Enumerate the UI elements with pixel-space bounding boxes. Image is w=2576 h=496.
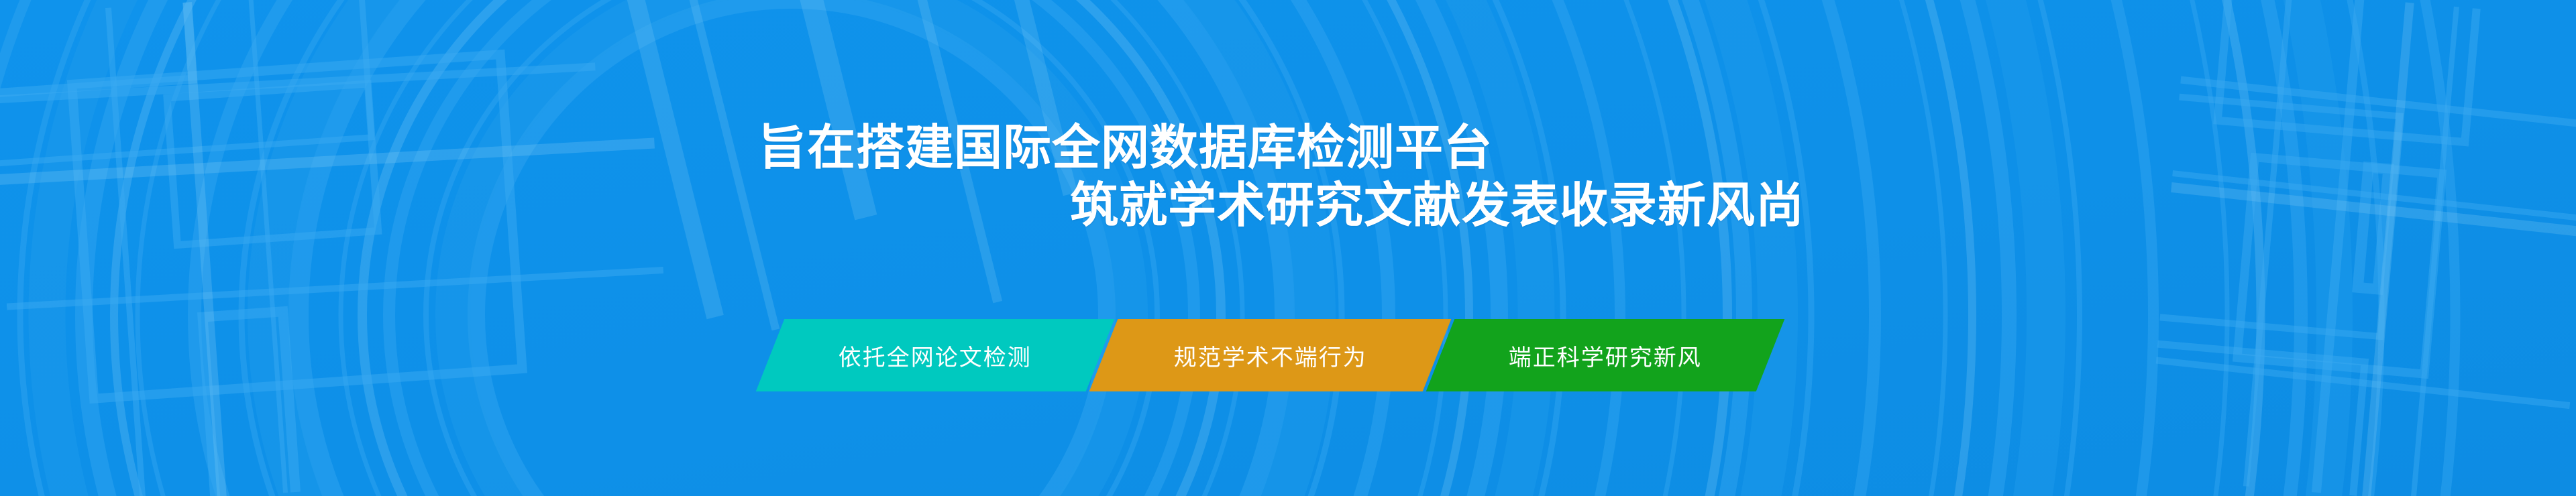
background-decoration bbox=[0, 0, 2576, 496]
decor-arcs bbox=[0, 0, 2455, 496]
headline-line-2: 筑就学术研究文献发表收录新风尚 bbox=[0, 177, 1811, 235]
feature-tag-misconduct[interactable]: 规范学术不端行为 bbox=[1089, 319, 1452, 391]
feature-tag-detection[interactable]: 依托全网论文检测 bbox=[756, 319, 1115, 391]
decor-frames-left bbox=[0, 0, 684, 496]
feature-tag-detection-label: 依托全网论文检测 bbox=[839, 339, 1032, 372]
feature-tag-integrity[interactable]: 端正科学研究新风 bbox=[1426, 319, 1785, 391]
background-base bbox=[0, 0, 2576, 496]
headline-block: 旨在搭建国际全网数据库检测平台 筑就学术研究文献发表收录新风尚 bbox=[0, 119, 1811, 235]
feature-tag-integrity-label: 端正科学研究新风 bbox=[1509, 339, 1702, 372]
promo-banner: 旨在搭建国际全网数据库检测平台 筑就学术研究文献发表收录新风尚 依托全网论文检测… bbox=[0, 0, 2576, 496]
feature-tag-misconduct-label: 规范学术不端行为 bbox=[1174, 339, 1367, 372]
decor-frames-right bbox=[1960, 0, 2576, 496]
feature-tag-strip: 依托全网论文检测 规范学术不端行为 端正科学研究新风 bbox=[770, 319, 1770, 391]
headline-line-1: 旨在搭建国际全网数据库检测平台 bbox=[0, 119, 1811, 177]
